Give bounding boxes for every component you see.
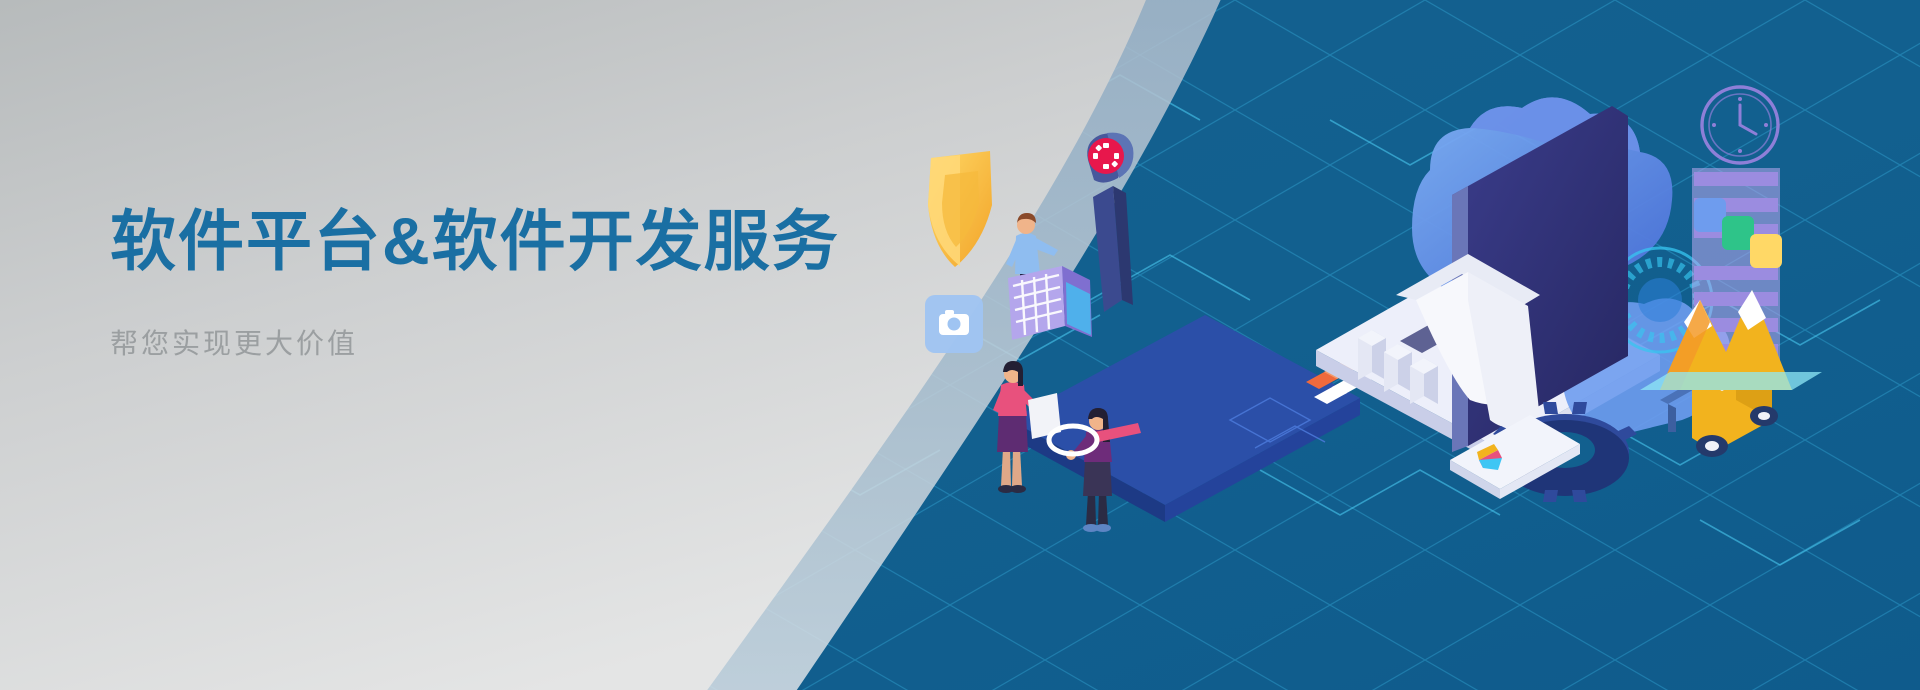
hero-banner: 软件平台&软件开发服务 帮您实现更大价值 <box>0 0 1920 690</box>
gear-badge-icon <box>1088 138 1124 174</box>
page-subtitle: 帮您实现更大价值 <box>110 278 890 362</box>
camera-icon <box>925 295 983 353</box>
clock-icon <box>1702 87 1778 163</box>
page-title: 软件平台&软件开发服务 <box>110 205 890 278</box>
calendar-icon <box>1008 266 1092 340</box>
banner-text-block: 软件平台&软件开发服务 帮您实现更大价值 <box>110 205 890 362</box>
